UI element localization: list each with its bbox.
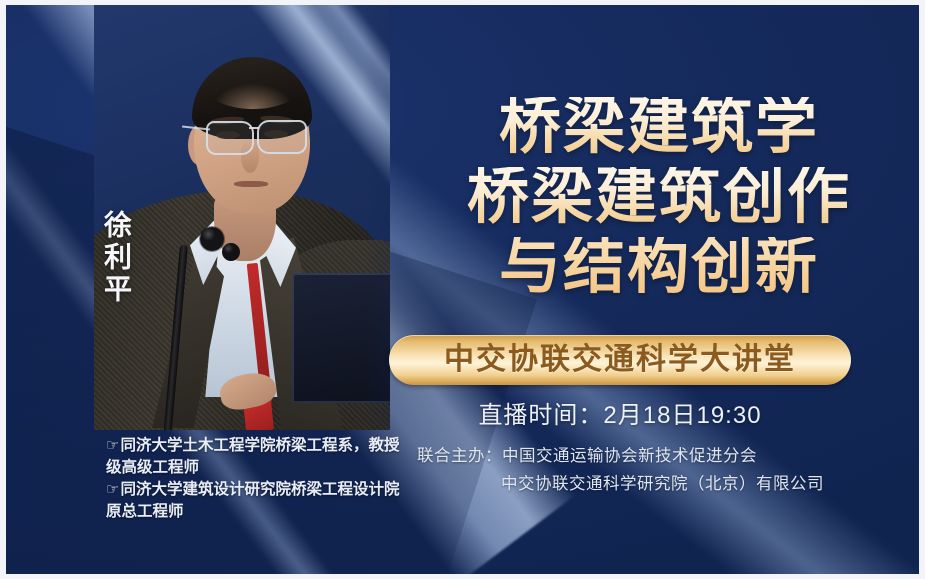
eyeglasses-lens-right <box>257 120 307 154</box>
title-line-1: 桥梁建筑学 <box>389 97 919 158</box>
organizers-label: 联合主办： <box>417 442 502 470</box>
title-line-3: 与结构创新 <box>389 237 919 298</box>
microphone-icon <box>200 227 224 251</box>
live-time: 直播时间：2月18日19:30 <box>389 395 851 430</box>
speaker-credentials: ☞同济大学土木工程学院桥梁工程系，教授级高级工程师 ☞同济大学建筑设计研究院桥梁… <box>106 435 406 523</box>
organizer-name: 中交协联交通科学研究院（北京）有限公司 <box>417 470 824 498</box>
title-line-2: 桥梁建筑创作 <box>389 167 919 228</box>
poster-canvas: 徐利平 ☞同济大学土木工程学院桥梁工程系，教授级高级工程师 ☞同济大学建筑设计研… <box>6 5 919 574</box>
speaker-mouth <box>234 181 268 187</box>
microphone-secondary-icon <box>222 243 240 261</box>
pointing-hand-icon: ☞ <box>106 481 119 498</box>
speaker-name: 徐利平 <box>88 210 130 306</box>
credential-text: 同济大学土木工程学院桥梁工程系，教授级高级工程师 <box>106 437 399 476</box>
organizer-row: 联合主办： 中国交通运输协会新技术促进分会 <box>417 442 824 470</box>
eyeglasses-bridge <box>249 127 259 129</box>
photo-edge-fade <box>364 5 390 430</box>
pointing-hand-icon: ☞ <box>106 437 119 454</box>
series-banner: 中交协联交通科学大讲堂 <box>389 335 851 385</box>
organizers-block: 联合主办： 中国交通运输协会新技术促进分会 中交协联交通科学研究院（北京）有限公… <box>417 442 824 499</box>
organizer-row: 中交协联交通科学研究院（北京）有限公司 <box>417 470 824 498</box>
credential-line: ☞同济大学建筑设计研究院桥梁工程设计院原总工程师 <box>106 479 406 523</box>
webinar-poster: 徐利平 ☞同济大学土木工程学院桥梁工程系，教授级高级工程师 ☞同济大学建筑设计研… <box>0 0 925 579</box>
credential-line: ☞同济大学土木工程学院桥梁工程系，教授级高级工程师 <box>106 435 406 479</box>
credential-text: 同济大学建筑设计研究院桥梁工程设计院原总工程师 <box>106 481 399 520</box>
organizer-name: 中国交通运输协会新技术促进分会 <box>502 442 757 470</box>
eyeglasses-lens-left <box>206 121 254 155</box>
speaker-photo <box>94 5 390 430</box>
poster-title: 桥梁建筑学 桥梁建筑创作 与结构创新 <box>389 97 919 297</box>
series-banner-label: 中交协联交通科学大讲堂 <box>444 345 796 375</box>
speaker-forehead <box>206 65 300 109</box>
